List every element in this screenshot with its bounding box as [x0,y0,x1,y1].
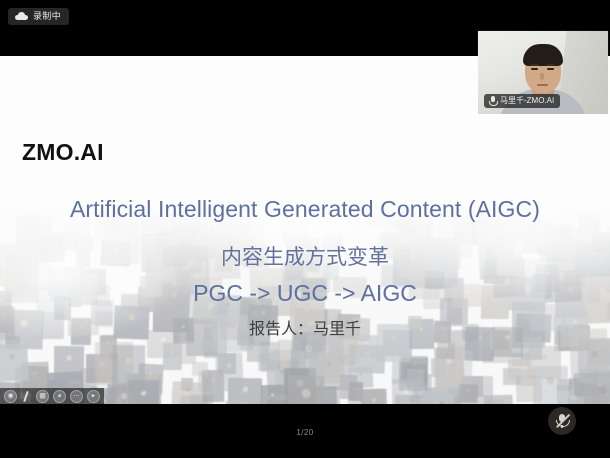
slide-grid-icon[interactable]: ▦ [36,390,49,403]
mic-muted-button[interactable] [548,407,576,435]
slide-title-english: Artificial Intelligent Generated Content… [0,196,610,223]
recording-label: 录制中 [33,11,61,21]
recording-badge: 录制中 [8,8,69,25]
slide-speaker: 报告人：马里千 [0,315,610,339]
bottom-control-bar: 1/20 [0,404,610,458]
zmo-logo: ZMO.AI [22,139,104,166]
meeting-screen-share-view: 录制中 ZMO.AI Artificial Intelligent Genera… [0,0,610,458]
slide-title-chinese: 内容生成方式变革 [0,241,610,271]
presenter-toolbar[interactable]: ◉ ▦ ◕ ⋯ ▸ [0,388,104,404]
more-options-icon[interactable]: ⋯ [70,390,83,403]
slide-page-indicator: 1/20 [0,428,610,437]
cloud-icon [15,12,28,20]
microphone-icon [489,96,496,105]
participant-video-tile[interactable]: 马里千-ZMO.AI [478,31,608,114]
zoom-icon[interactable]: ◕ [53,390,66,403]
menu-icon[interactable]: ▸ [87,390,100,403]
slide-content-flow: PGC -> UGC -> AIGC [0,280,610,307]
participant-name: 马里千-ZMO.AI [500,96,554,105]
participant-name-tag: 马里千-ZMO.AI [484,94,560,108]
laser-pointer-icon[interactable]: ◉ [4,390,17,403]
pen-icon[interactable] [21,391,32,402]
microphone-muted-icon [555,413,569,429]
